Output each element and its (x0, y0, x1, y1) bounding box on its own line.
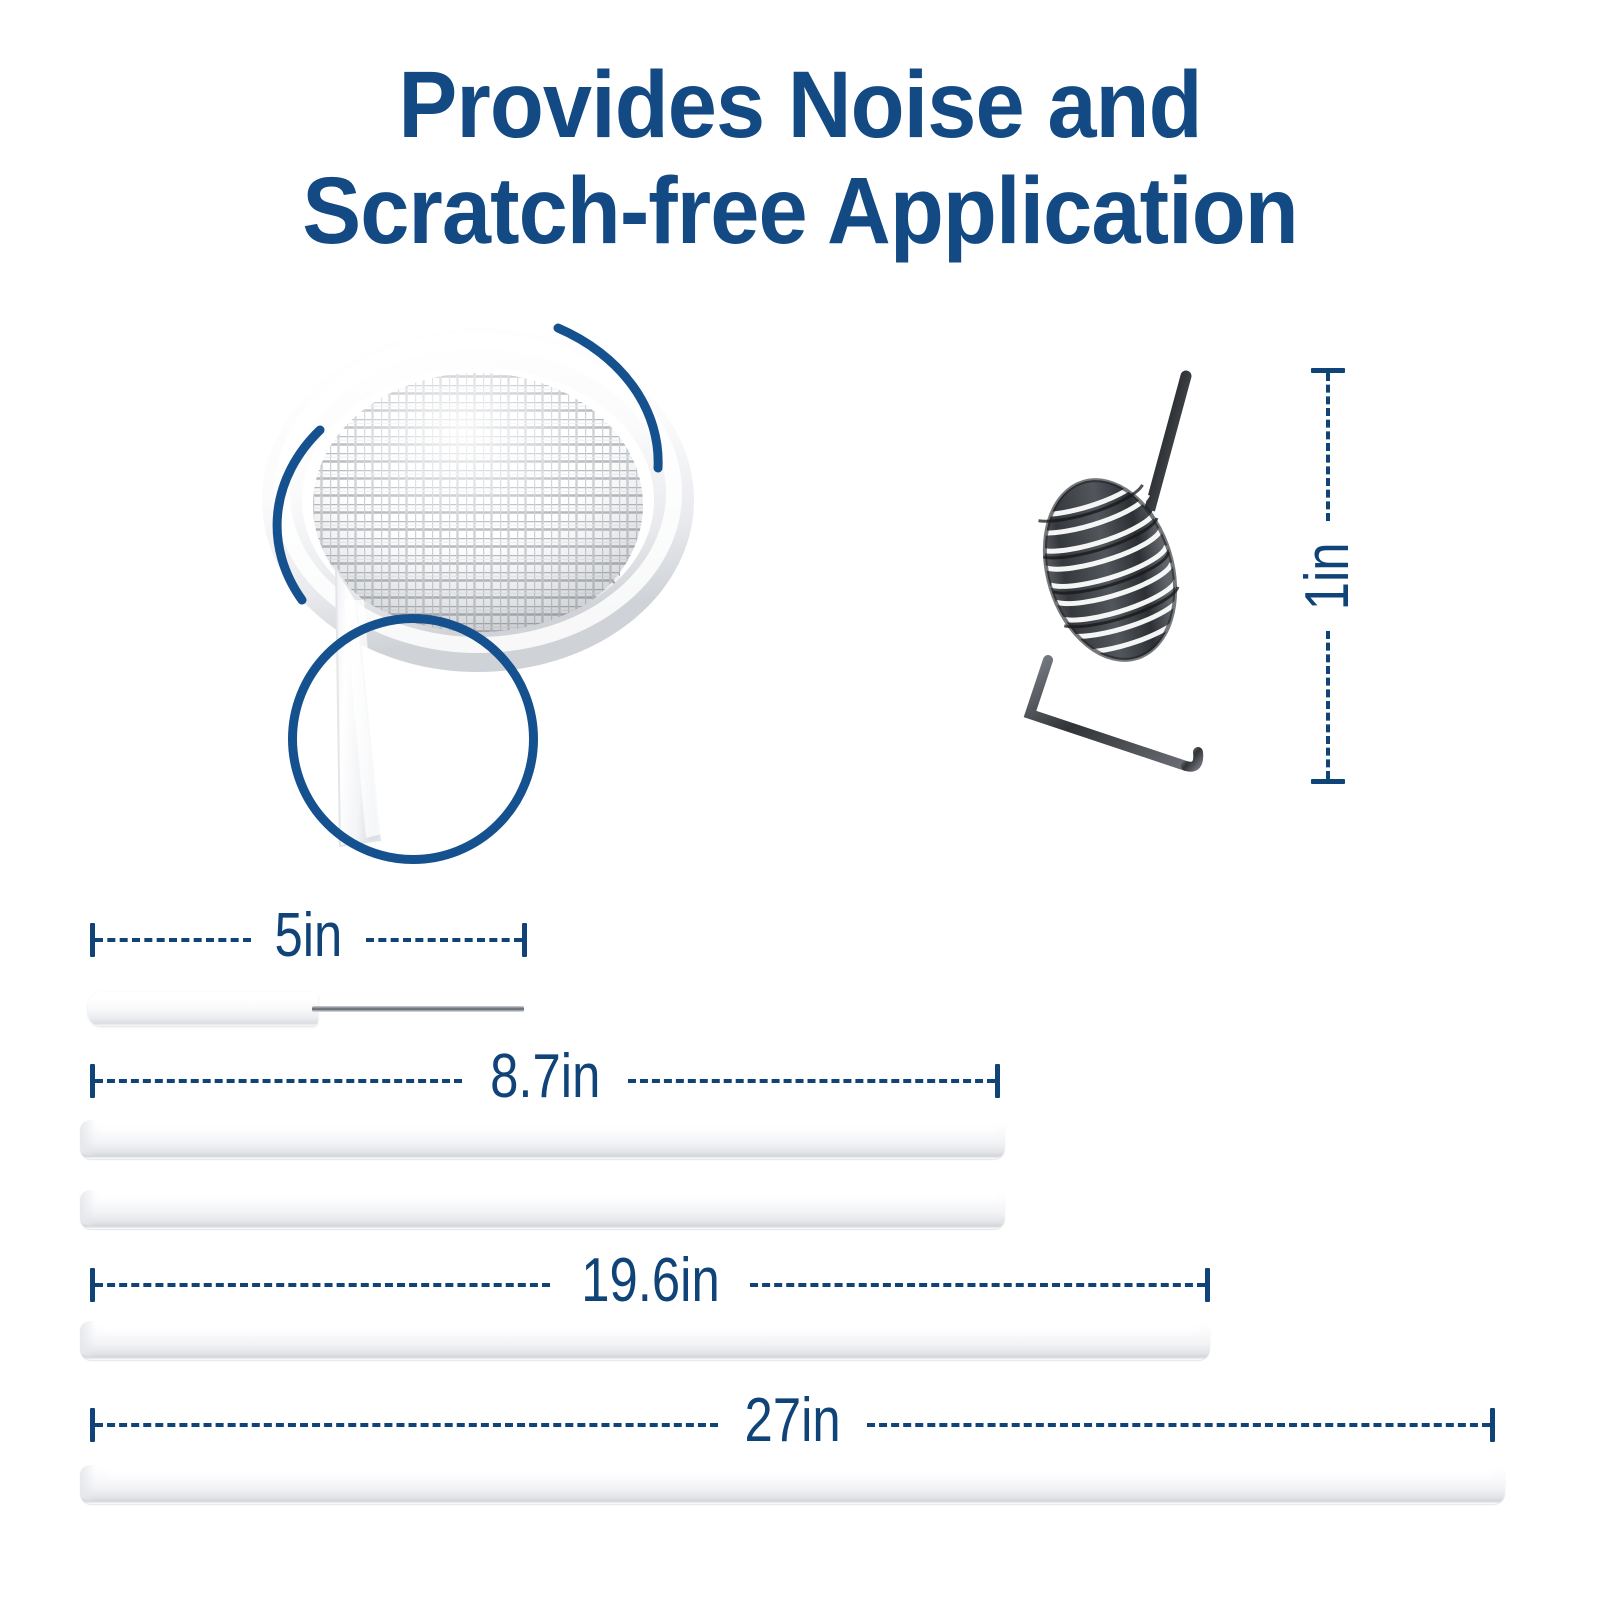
white-rod-short-b (80, 1187, 1005, 1229)
dimension-pin-length: 5in (90, 917, 527, 963)
spring-lower-leg (1030, 660, 1186, 766)
dimension-cap-right (995, 1064, 1000, 1098)
dimension-cap-right (522, 923, 527, 957)
dimension-rod-long: 27in (90, 1402, 1495, 1448)
infographic-page: Provides Noise and Scratch-free Applicat… (0, 0, 1600, 1600)
pin-tool-needle (312, 1006, 524, 1012)
dimension-dashes-left (95, 1423, 718, 1427)
dimension-rod-short: 8.7in (90, 1058, 1000, 1104)
dimension-spring-height: 1in (1305, 368, 1351, 784)
dimension-label-5in: 5in (261, 905, 355, 967)
dimension-dashes-right (750, 1283, 1205, 1287)
dimension-cap-right (1205, 1268, 1210, 1302)
dimension-dashes-left (95, 1283, 550, 1287)
dimension-dashes-left (95, 938, 251, 942)
callout-circle (288, 614, 538, 864)
white-rod-medium (80, 1318, 1210, 1360)
dimension-rod-medium: 19.6in (90, 1262, 1210, 1308)
dimension-dashes-right (628, 1079, 995, 1083)
dimension-label-19-6in: 19.6in (568, 1250, 733, 1312)
dimension-cap-bottom (1311, 779, 1345, 784)
dimension-dashes-right (366, 938, 522, 942)
dimension-cap-right (1490, 1408, 1495, 1442)
dimension-dashes-top (1326, 373, 1330, 521)
white-rod-long (80, 1462, 1505, 1504)
dimension-label-8-7in: 8.7in (477, 1046, 613, 1108)
pin-tool-handle (88, 992, 318, 1026)
spring-hook-tip (1186, 752, 1198, 767)
spring-coil-body (1024, 464, 1196, 676)
dimension-dashes-right (867, 1423, 1490, 1427)
dimension-label-1in: 1in (1297, 531, 1359, 622)
dimension-label-27in: 27in (731, 1390, 853, 1452)
torsion-spring-illustration (990, 360, 1270, 780)
dimension-dashes-left (95, 1079, 462, 1083)
white-rod-short-a (80, 1117, 1005, 1159)
page-title: Provides Noise and Scratch-free Applicat… (56, 52, 1544, 265)
dimension-dashes-bottom (1326, 631, 1330, 779)
